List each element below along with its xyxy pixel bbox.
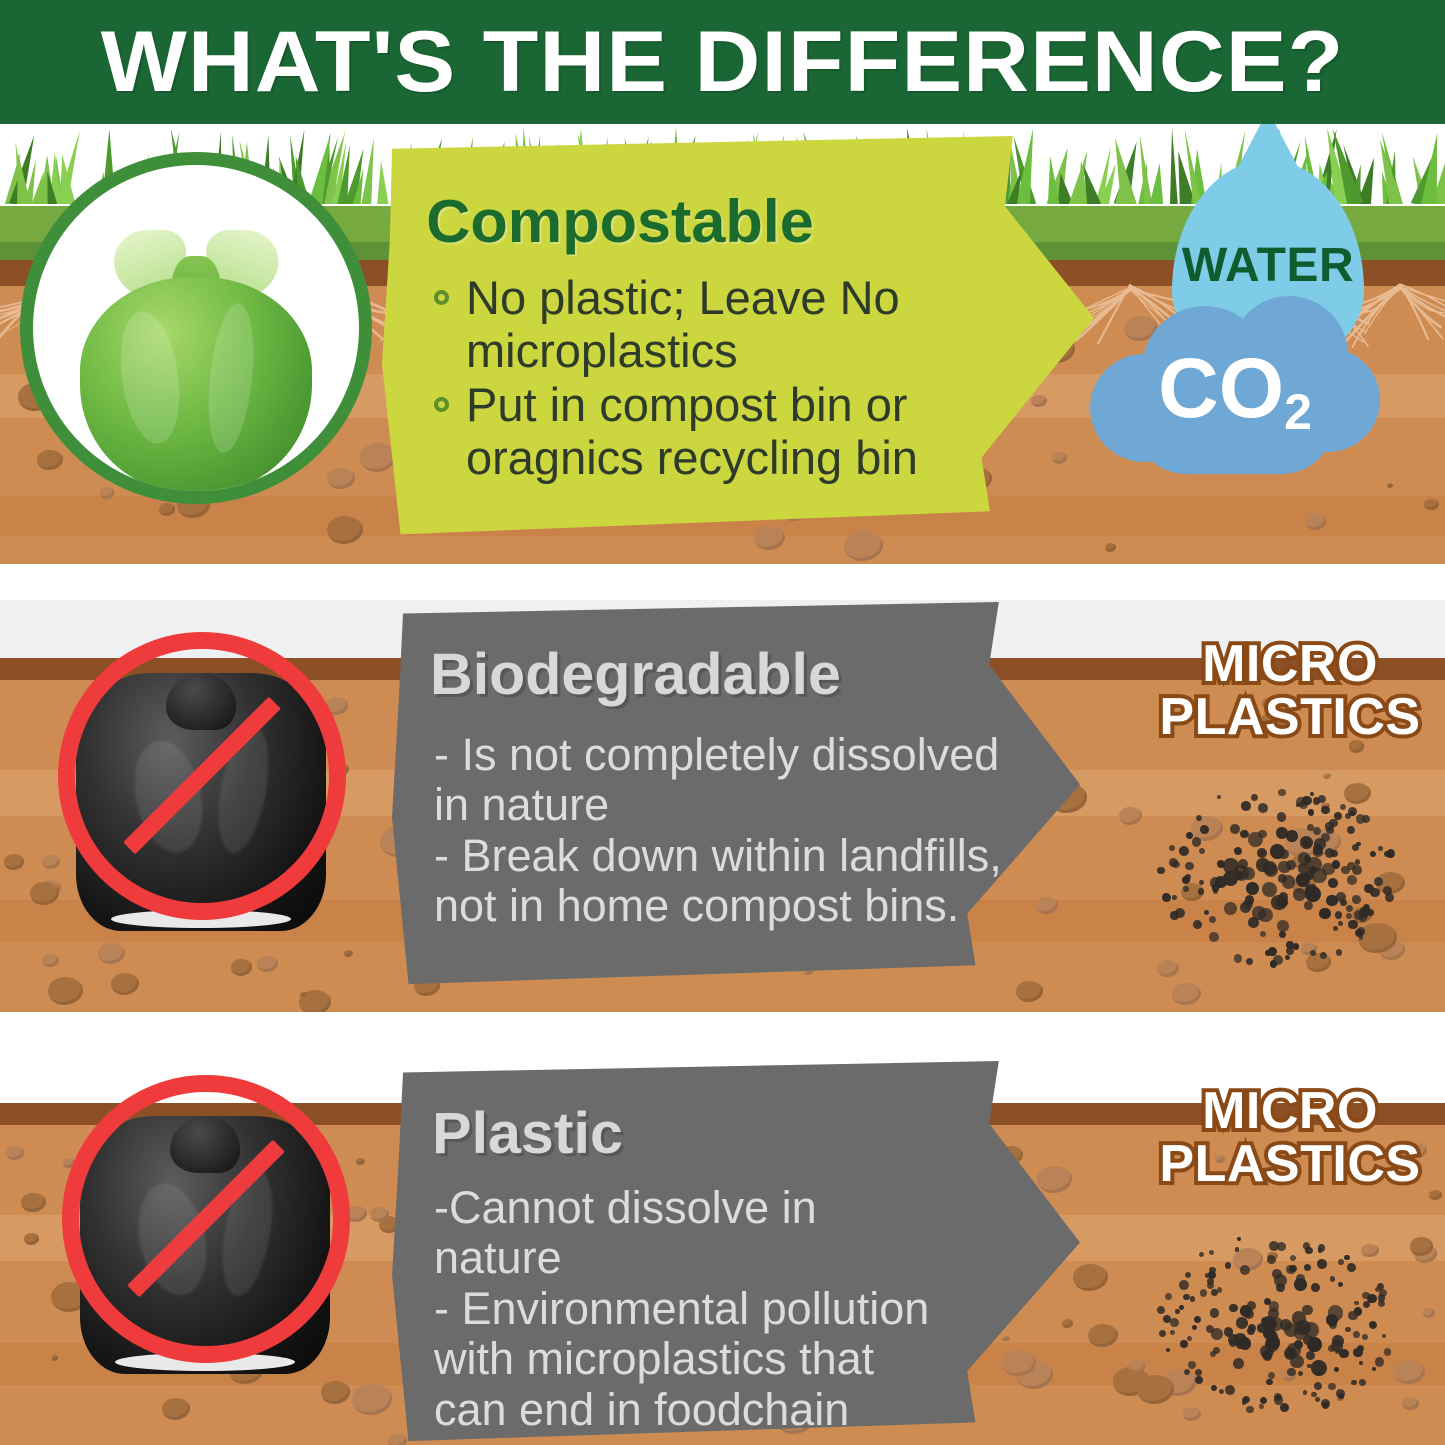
microplastic-dot <box>1287 1368 1295 1376</box>
microplastic-dot <box>1240 1265 1250 1275</box>
microplastic-dot <box>1359 1361 1363 1365</box>
microplastic-dot <box>1211 1328 1223 1340</box>
microplastic-dot <box>1347 875 1357 885</box>
microplastic-dot <box>1286 947 1294 955</box>
microplastic-dot <box>1354 1301 1359 1306</box>
microplastic-dot <box>1328 1383 1335 1390</box>
biodegradable-bag-icon <box>36 614 366 944</box>
microplastic-dot <box>1306 1351 1315 1360</box>
microplastic-dot <box>1179 846 1189 856</box>
microplastic-dot <box>1379 1289 1387 1297</box>
microplastic-dot <box>1264 863 1278 877</box>
microplastic-dot <box>1209 916 1216 923</box>
microplastic-dot <box>1385 893 1394 902</box>
microplastic-dot <box>1169 845 1175 851</box>
microplastic-dot <box>1195 1376 1203 1384</box>
microplastic-dot <box>1241 801 1251 811</box>
microplastic-dot <box>1213 1347 1220 1354</box>
plastic-arrow-content: Plastic -Cannot dissolve in nature - Env… <box>392 1061 1080 1443</box>
microplastic-dot <box>1354 1307 1362 1315</box>
microplastic-dot <box>1362 1334 1368 1340</box>
microplastic-dot <box>1313 844 1323 854</box>
microplastic-dot <box>1219 1389 1224 1394</box>
microplastic-dot <box>1347 1263 1356 1272</box>
microplastic-dot <box>1271 895 1287 911</box>
microplastic-dot <box>1374 877 1383 886</box>
biodegradable-title: Biodegradable <box>430 646 841 704</box>
microplastic-dot <box>1315 1397 1320 1402</box>
microplastic-dot <box>1224 902 1237 915</box>
microplastics-label-plastic: MICRO PLASTICS <box>1140 1085 1440 1191</box>
plastic-title: Plastic <box>432 1105 623 1163</box>
microplastic-dot <box>1353 1331 1359 1337</box>
bullet-circle-icon <box>434 397 449 412</box>
microplastic-dot <box>1346 913 1352 919</box>
microplastic-dot <box>1345 1327 1351 1333</box>
microplastic-dot <box>1326 827 1333 834</box>
microplastic-dot <box>1277 812 1286 821</box>
microplastic-dot <box>1236 1317 1248 1329</box>
microplastic-dot <box>1346 905 1353 912</box>
microplastic-dot <box>1356 842 1360 846</box>
microplastic-dot <box>1372 1367 1376 1371</box>
microplastic-dot <box>1320 952 1327 959</box>
section-plastic: Plastic -Cannot dissolve in nature - Env… <box>0 1043 1445 1445</box>
plastic-bullet-list: -Cannot dissolve in nature - Environment… <box>434 1183 954 1435</box>
microplastic-dot <box>1319 908 1331 920</box>
biodegradable-arrow-content: Biodegradable - Is not completely dissol… <box>392 602 1080 986</box>
microplastic-dot <box>1267 1255 1277 1265</box>
microplastic-dot <box>1198 888 1204 894</box>
microplastic-dot <box>1313 827 1321 835</box>
microplastic-dot <box>1266 1335 1280 1349</box>
microplastic-dot <box>1233 1358 1245 1370</box>
microplastics-line-1: MICRO <box>1140 638 1440 691</box>
microplastic-dot <box>1286 1265 1296 1275</box>
microplastic-dot <box>1333 926 1338 931</box>
microplastic-dot <box>1179 1305 1184 1310</box>
list-item: No plastic; Leave No microplastics <box>432 272 952 377</box>
microplastic-dot <box>1278 789 1285 796</box>
microplastic-dot <box>1338 1393 1344 1399</box>
microplastic-dot <box>1334 1367 1339 1372</box>
microplastic-dot <box>1348 920 1358 930</box>
list-item: Put in compost bin or oragnics recycling… <box>432 379 952 484</box>
microplastic-dot <box>1378 846 1382 850</box>
microplastic-dot <box>1338 1259 1343 1264</box>
microplastic-dot <box>1352 895 1362 905</box>
microplastic-dot <box>1340 804 1346 810</box>
microplastic-dot <box>1332 1335 1344 1347</box>
microplastic-dot <box>1209 1250 1214 1255</box>
microplastic-dot <box>1180 1340 1188 1348</box>
microplastic-dot <box>1338 1282 1343 1287</box>
microplastic-dot <box>1280 1403 1289 1412</box>
microplastic-dot <box>1217 1287 1223 1293</box>
microplastic-dot <box>1330 1276 1336 1282</box>
microplastic-dot <box>1277 1242 1286 1251</box>
microplastic-dot <box>1243 1396 1251 1404</box>
microplastic-dot <box>1199 848 1206 855</box>
list-item-label: No plastic; Leave No microplastics <box>466 271 900 377</box>
microplastic-dot <box>1268 1372 1276 1380</box>
microplastic-dot <box>1308 809 1315 816</box>
microplastic-dot <box>1246 1406 1254 1414</box>
microplastic-dot <box>1321 1399 1330 1408</box>
microplastic-dot <box>1353 1348 1362 1357</box>
microplastic-dot <box>1170 1330 1175 1335</box>
microplastic-dot <box>1172 895 1176 899</box>
microplastic-dot <box>1328 878 1338 888</box>
microplastic-dot <box>1345 813 1351 819</box>
microplastics-line-2: PLASTICS <box>1140 1138 1440 1191</box>
microplastic-dot <box>1210 1308 1219 1317</box>
microplastic-dot <box>1359 908 1369 918</box>
microplastic-dot <box>1375 1357 1385 1367</box>
section-biodegradable: Biodegradable - Is not completely dissol… <box>0 600 1445 1012</box>
microplastic-dot <box>1355 929 1363 937</box>
microplastic-dot <box>1157 867 1165 875</box>
microplastic-dot <box>1294 1340 1304 1350</box>
compostable-bullet-list: No plastic; Leave No microplastics Put i… <box>432 272 952 487</box>
microplastic-dot <box>1282 875 1295 888</box>
microplastic-dot <box>1225 1262 1231 1268</box>
microplastic-dot <box>1286 860 1296 870</box>
microplastic-dot <box>1340 899 1347 906</box>
microplastic-dot <box>1251 794 1258 801</box>
microplastic-dot <box>1384 1348 1392 1356</box>
co2-subscript: 2 <box>1284 384 1312 440</box>
microplastic-dot <box>1266 1379 1273 1386</box>
bag-fold <box>113 308 186 447</box>
microplastic-dot <box>1159 1330 1166 1337</box>
microplastic-dot <box>1187 1336 1192 1341</box>
microplastic-dot <box>1234 847 1242 855</box>
microplastic-dot <box>1363 1301 1370 1308</box>
microplastic-dot <box>1311 1360 1327 1376</box>
microplastic-dot <box>1286 830 1298 842</box>
microplastic-dot <box>1235 871 1244 880</box>
microplastic-dot <box>1200 1289 1207 1296</box>
microplastic-dot <box>1304 901 1313 910</box>
microplastic-dot <box>1296 1274 1304 1282</box>
microplastic-dot <box>1213 889 1218 894</box>
microplastic-dot <box>1175 1309 1180 1314</box>
microplastic-dot <box>1260 931 1266 937</box>
microplastic-dot <box>1321 806 1329 814</box>
microplastic-dot <box>1258 908 1273 923</box>
microplastic-dot <box>1355 859 1361 865</box>
infographic-page: WHAT'S THE DIFFERENCE? <box>0 0 1445 1445</box>
microplastic-dot <box>1237 1237 1242 1242</box>
microplastic-dot <box>1246 958 1253 965</box>
microplastic-dot <box>1270 844 1285 859</box>
microplastic-dot <box>1311 1283 1320 1292</box>
microplastic-dot <box>1329 1321 1337 1329</box>
microplastic-dot <box>1205 1273 1209 1277</box>
bullet-circle-icon <box>434 290 449 305</box>
microplastic-dot <box>1225 1385 1235 1395</box>
microplastic-dot <box>1356 814 1366 824</box>
compostable-title: Compostable <box>426 192 814 252</box>
microplastic-dot <box>1310 792 1314 796</box>
microplastic-dot <box>1211 1385 1217 1391</box>
microplastic-dot <box>1336 949 1343 956</box>
compostable-arrow-content: Compostable No plastic; Leave No micropl… <box>382 136 1094 536</box>
microplastic-dot <box>1183 1294 1189 1300</box>
bag-body <box>80 277 312 491</box>
microplastic-dot <box>1314 1382 1322 1390</box>
microplastic-dot <box>1285 1349 1295 1359</box>
microplastic-dot <box>1204 910 1209 915</box>
list-item: - Environmental pollution with microplas… <box>434 1284 954 1435</box>
microplastic-dot <box>1298 1371 1303 1376</box>
microplastic-dot <box>1217 795 1221 799</box>
microplastic-dot <box>1304 1264 1311 1271</box>
microplastic-dot <box>1303 1390 1307 1394</box>
microplastic-dot <box>1260 1397 1267 1404</box>
microplastic-dot <box>1370 851 1376 857</box>
biodegradable-bullet-list: - Is not completely dissolved in nature … <box>434 730 1009 932</box>
section-compostable: Compostable No plastic; Leave No micropl… <box>0 124 1445 564</box>
microplastic-dot <box>1157 1306 1165 1314</box>
microplastics-label-biodegradable: MICRO PLASTICS <box>1140 638 1440 744</box>
microplastic-dot <box>1259 1404 1264 1409</box>
microplastic-dot <box>1386 850 1394 858</box>
microplastic-dot <box>1230 824 1240 834</box>
microplastic-dot <box>1229 1304 1237 1312</box>
microplastic-dot <box>1344 1255 1350 1261</box>
microplastic-dot <box>1209 932 1219 942</box>
microplastic-dot <box>1246 882 1259 895</box>
microplastic-dot <box>1273 955 1283 965</box>
microplastic-dot <box>1248 917 1259 928</box>
microplastic-dot <box>1162 893 1171 902</box>
microplastic-dot <box>1310 950 1316 956</box>
microplastic-dot <box>1335 1349 1340 1354</box>
microplastic-dot <box>1196 815 1202 821</box>
list-item: - Is not completely dissolved in nature <box>434 730 1009 831</box>
microplastic-dot <box>1179 1280 1189 1290</box>
header-banner: WHAT'S THE DIFFERENCE? <box>0 0 1445 124</box>
green-bag-illustration <box>75 230 316 491</box>
plastic-bag-icon <box>40 1057 370 1387</box>
microplastic-dot <box>1285 955 1290 960</box>
microplastic-dot <box>1338 921 1343 926</box>
microplastic-dot <box>1279 931 1286 938</box>
microplastic-dot <box>1362 1292 1369 1299</box>
co2-cloud-icon: CO2 <box>1090 296 1380 474</box>
microplastic-dot <box>1330 850 1337 857</box>
co2-text: CO <box>1158 341 1284 435</box>
microplastics-line-2: PLASTICS <box>1140 691 1440 744</box>
microplastic-dot <box>1248 832 1263 847</box>
microplastic-dot <box>1240 902 1251 913</box>
microplastic-dot <box>1192 1325 1198 1331</box>
compostable-bag-icon <box>20 152 372 504</box>
microplastic-dot <box>1351 1380 1356 1385</box>
microplastic-dot <box>1312 868 1328 884</box>
microplastic-dot <box>1234 954 1242 962</box>
list-item: - Break down within landfills, not in ho… <box>434 831 1009 932</box>
microplastic-dot <box>1302 1305 1313 1316</box>
microplastic-dot <box>1382 1334 1386 1338</box>
microplastic-dot <box>1369 1321 1377 1329</box>
water-label: WATER <box>1182 238 1354 293</box>
microplastic-dot <box>1190 1296 1195 1301</box>
page-title: WHAT'S THE DIFFERENCE? <box>101 19 1345 105</box>
microplastic-dot <box>1200 825 1209 834</box>
microplastic-dot <box>1378 1300 1385 1307</box>
microplastic-dot <box>1170 1318 1179 1327</box>
microplastic-dot <box>1258 803 1268 813</box>
microplastics-dot-cluster <box>1150 778 1400 968</box>
microplastics-line-1: MICRO <box>1140 1085 1440 1138</box>
microplastics-dot-cluster <box>1150 1225 1400 1415</box>
microplastic-dot <box>1235 1247 1240 1252</box>
microplastic-dot <box>1188 1361 1195 1368</box>
microplastic-dot <box>1170 911 1179 920</box>
microplastic-dot <box>1209 1267 1215 1273</box>
microplastic-dot <box>1347 826 1355 834</box>
microplastic-dot <box>1185 1272 1191 1278</box>
microplastic-dot <box>1199 880 1204 885</box>
microplastic-dot <box>1359 1379 1366 1386</box>
microplastic-dot <box>1274 1274 1287 1287</box>
microplastic-dot <box>1317 1259 1326 1268</box>
microplastic-dot <box>1311 1392 1316 1397</box>
microplastic-dot <box>1193 920 1202 929</box>
microplastic-dot <box>1339 1349 1348 1358</box>
microplastic-dot <box>1274 1393 1282 1401</box>
microplastic-dot <box>1341 866 1350 875</box>
microplastic-dot <box>1199 1252 1204 1257</box>
microplastic-dot <box>1364 884 1374 894</box>
microplastic-dot <box>1183 886 1189 892</box>
microplastic-dot <box>1318 1248 1323 1253</box>
microplastic-dot <box>1352 865 1362 875</box>
microplastic-dot <box>1166 1348 1170 1352</box>
microplastic-dot <box>1165 1293 1172 1300</box>
microplastic-dot <box>1192 837 1202 847</box>
bag-fold <box>202 301 259 454</box>
microplastic-dot <box>1335 911 1343 919</box>
list-item-label: Put in compost bin or oragnics recycling… <box>466 378 918 484</box>
microplastic-dot <box>1293 888 1306 901</box>
microplastic-dot <box>1313 797 1321 805</box>
microplastic-dot <box>1257 848 1267 858</box>
microplastic-dot <box>1215 876 1227 888</box>
microplastic-dot <box>1184 1369 1190 1375</box>
microplastic-dot <box>1185 862 1194 871</box>
microplastic-dot <box>1329 819 1338 828</box>
list-item: -Cannot dissolve in nature <box>434 1183 954 1284</box>
co2-label: CO2 <box>1158 340 1312 437</box>
microplastic-dot <box>1185 874 1191 880</box>
microplastic-dot <box>1194 1316 1201 1323</box>
microplastic-dot <box>1247 1327 1255 1335</box>
microplastic-dot <box>1290 1255 1296 1261</box>
